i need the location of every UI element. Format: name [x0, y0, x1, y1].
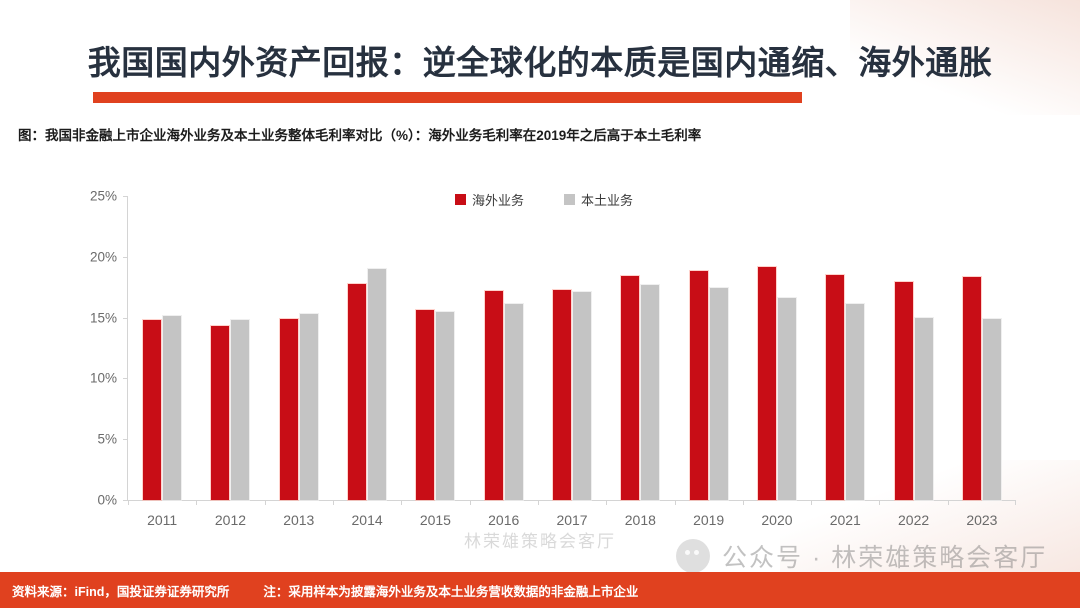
- bar-domestic-2015[interactable]: [436, 312, 454, 500]
- x-axis-tick-label-2019: 2019: [675, 512, 743, 528]
- bar-domestic-2011[interactable]: [163, 316, 181, 500]
- bar-domestic-2023[interactable]: [983, 319, 1001, 500]
- slide-footer: 资料来源：iFind，国投证券证券研究所 注：采用样本为披露海外业务及本土业务营…: [0, 572, 1080, 608]
- bar-group-2015: 2015: [401, 196, 469, 500]
- bar-domestic-2013[interactable]: [300, 314, 318, 500]
- bar-groups: 2011201220132014201520162017201820192020…: [128, 196, 1016, 500]
- bar-overseas-2022[interactable]: [895, 282, 913, 500]
- wechat-icon: [676, 539, 710, 573]
- watermark-brand: 公众号 · 林荣雄策略会客厅: [676, 538, 1047, 574]
- bar-group-2011: 2011: [128, 196, 196, 500]
- bar-group-2016: 2016: [470, 196, 538, 500]
- bar-overseas-2018[interactable]: [621, 276, 639, 500]
- bar-overseas-2017[interactable]: [553, 290, 571, 500]
- bar-group-2017: 2017: [538, 196, 606, 500]
- x-axis-tick-label-2013: 2013: [265, 512, 333, 528]
- bar-group-2020: 2020: [743, 196, 811, 500]
- bar-domestic-2019[interactable]: [710, 288, 728, 500]
- x-axis-tick-label-2022: 2022: [879, 512, 947, 528]
- page-title: 我国国内外资产回报：逆全球化的本质是国内通缩、海外通胀: [0, 36, 1080, 84]
- chart-plot-area: 0%5%10%15%20%25% 20112012201320142015201…: [127, 196, 1016, 501]
- bar-domestic-2012[interactable]: [231, 320, 249, 500]
- bar-group-2019: 2019: [675, 196, 743, 500]
- bar-domestic-2021[interactable]: [846, 304, 864, 500]
- watermark-brand-text: 公众号 · 林荣雄策略会客厅: [722, 538, 1047, 574]
- bar-domestic-2018[interactable]: [641, 285, 659, 500]
- bar-group-2018: 2018: [606, 196, 674, 500]
- x-axis-tick-label-2014: 2014: [333, 512, 401, 528]
- x-axis-tick-label-2020: 2020: [743, 512, 811, 528]
- bar-overseas-2019[interactable]: [690, 271, 708, 500]
- x-axis-tick-label-2015: 2015: [401, 512, 469, 528]
- bar-domestic-2020[interactable]: [778, 298, 796, 500]
- bar-overseas-2013[interactable]: [280, 319, 298, 500]
- chart-caption: 图：我国非金融上市企业海外业务及本土业务整体毛利率对比（%）：海外业务毛利率在2…: [18, 124, 1058, 144]
- chart-container: 海外业务本土业务 0%5%10%15%20%25% 20112012201320…: [0, 160, 1080, 535]
- bar-overseas-2023[interactable]: [963, 277, 981, 500]
- bar-group-2021: 2021: [811, 196, 879, 500]
- bar-domestic-2016[interactable]: [505, 304, 523, 500]
- bar-overseas-2015[interactable]: [416, 310, 434, 500]
- bar-overseas-2011[interactable]: [143, 320, 161, 500]
- bar-group-2022: 2022: [879, 196, 947, 500]
- bar-overseas-2021[interactable]: [826, 275, 844, 500]
- bar-group-2013: 2013: [265, 196, 333, 500]
- bar-group-2023: 2023: [948, 196, 1016, 500]
- footer-note-text: 注：采用样本为披露海外业务及本土业务营收数据的非金融上市企业: [263, 581, 638, 600]
- bar-domestic-2022[interactable]: [915, 318, 933, 500]
- bar-overseas-2012[interactable]: [211, 326, 229, 500]
- bar-overseas-2016[interactable]: [485, 291, 503, 500]
- bar-domestic-2014[interactable]: [368, 269, 386, 500]
- bar-group-2012: 2012: [196, 196, 264, 500]
- x-axis-tick-label-2016: 2016: [470, 512, 538, 528]
- bar-domestic-2017[interactable]: [573, 292, 591, 500]
- x-axis-tick-label-2011: 2011: [128, 512, 196, 528]
- slide-header: 我国国内外资产回报：逆全球化的本质是国内通缩、海外通胀: [0, 0, 1080, 112]
- x-axis-tick-label-2021: 2021: [811, 512, 879, 528]
- bar-overseas-2020[interactable]: [758, 267, 776, 500]
- x-axis-tick-label-2023: 2023: [948, 512, 1016, 528]
- title-underline-rule: [93, 92, 802, 103]
- footer-source-text: 资料来源：iFind，国投证券证券研究所: [12, 581, 229, 600]
- x-axis-tick-label-2012: 2012: [196, 512, 264, 528]
- x-axis-tick-label-2017: 2017: [538, 512, 606, 528]
- bar-group-2014: 2014: [333, 196, 401, 500]
- x-axis-tick-label-2018: 2018: [606, 512, 674, 528]
- bar-overseas-2014[interactable]: [348, 284, 366, 500]
